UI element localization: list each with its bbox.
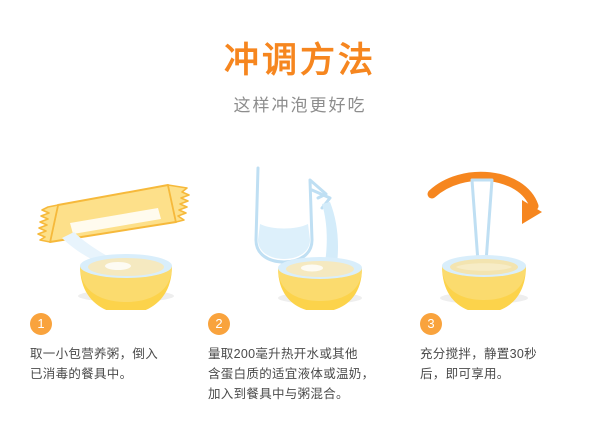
pitcher-icon: [256, 168, 330, 262]
page-subtitle: 这样冲泡更好吃: [0, 96, 600, 116]
illustration-strip: [0, 150, 600, 310]
bowl-icon: [80, 254, 172, 310]
illustration-step-1: [18, 150, 208, 310]
step-item-2: 2 量取200毫升热开水或其他 含蛋白质的适宜液体或温奶， 加入到餐具中与粥混合…: [208, 313, 383, 404]
illustration-step-3: [410, 150, 580, 310]
step-number-badge: 3: [420, 313, 442, 335]
step-description: 量取200毫升热开水或其他 含蛋白质的适宜液体或温奶， 加入到餐具中与粥混合。: [208, 344, 383, 404]
sachet-icon: [38, 185, 189, 242]
step-description: 取一小包营养粥，倒入 已消毒的餐具中。: [30, 344, 205, 384]
illustration-step-2: [232, 150, 382, 310]
step-item-3: 3 充分搅拌，静置30秒 后，即可享用。: [420, 313, 595, 384]
promo-instruction-graphic: 冲调方法 这样冲泡更好吃: [0, 0, 600, 432]
step-description: 充分搅拌，静置30秒 后，即可享用。: [420, 344, 595, 384]
step-number-badge: 1: [30, 313, 52, 335]
step-number-badge: 2: [208, 313, 230, 335]
steps-list: 1 取一小包营养粥，倒入 已消毒的餐具中。 2 量取200毫升热开水或其他 含蛋…: [0, 313, 600, 423]
header: 冲调方法 这样冲泡更好吃: [0, 40, 600, 116]
page-title: 冲调方法: [0, 40, 600, 82]
step-item-1: 1 取一小包营养粥，倒入 已消毒的餐具中。: [30, 313, 205, 384]
